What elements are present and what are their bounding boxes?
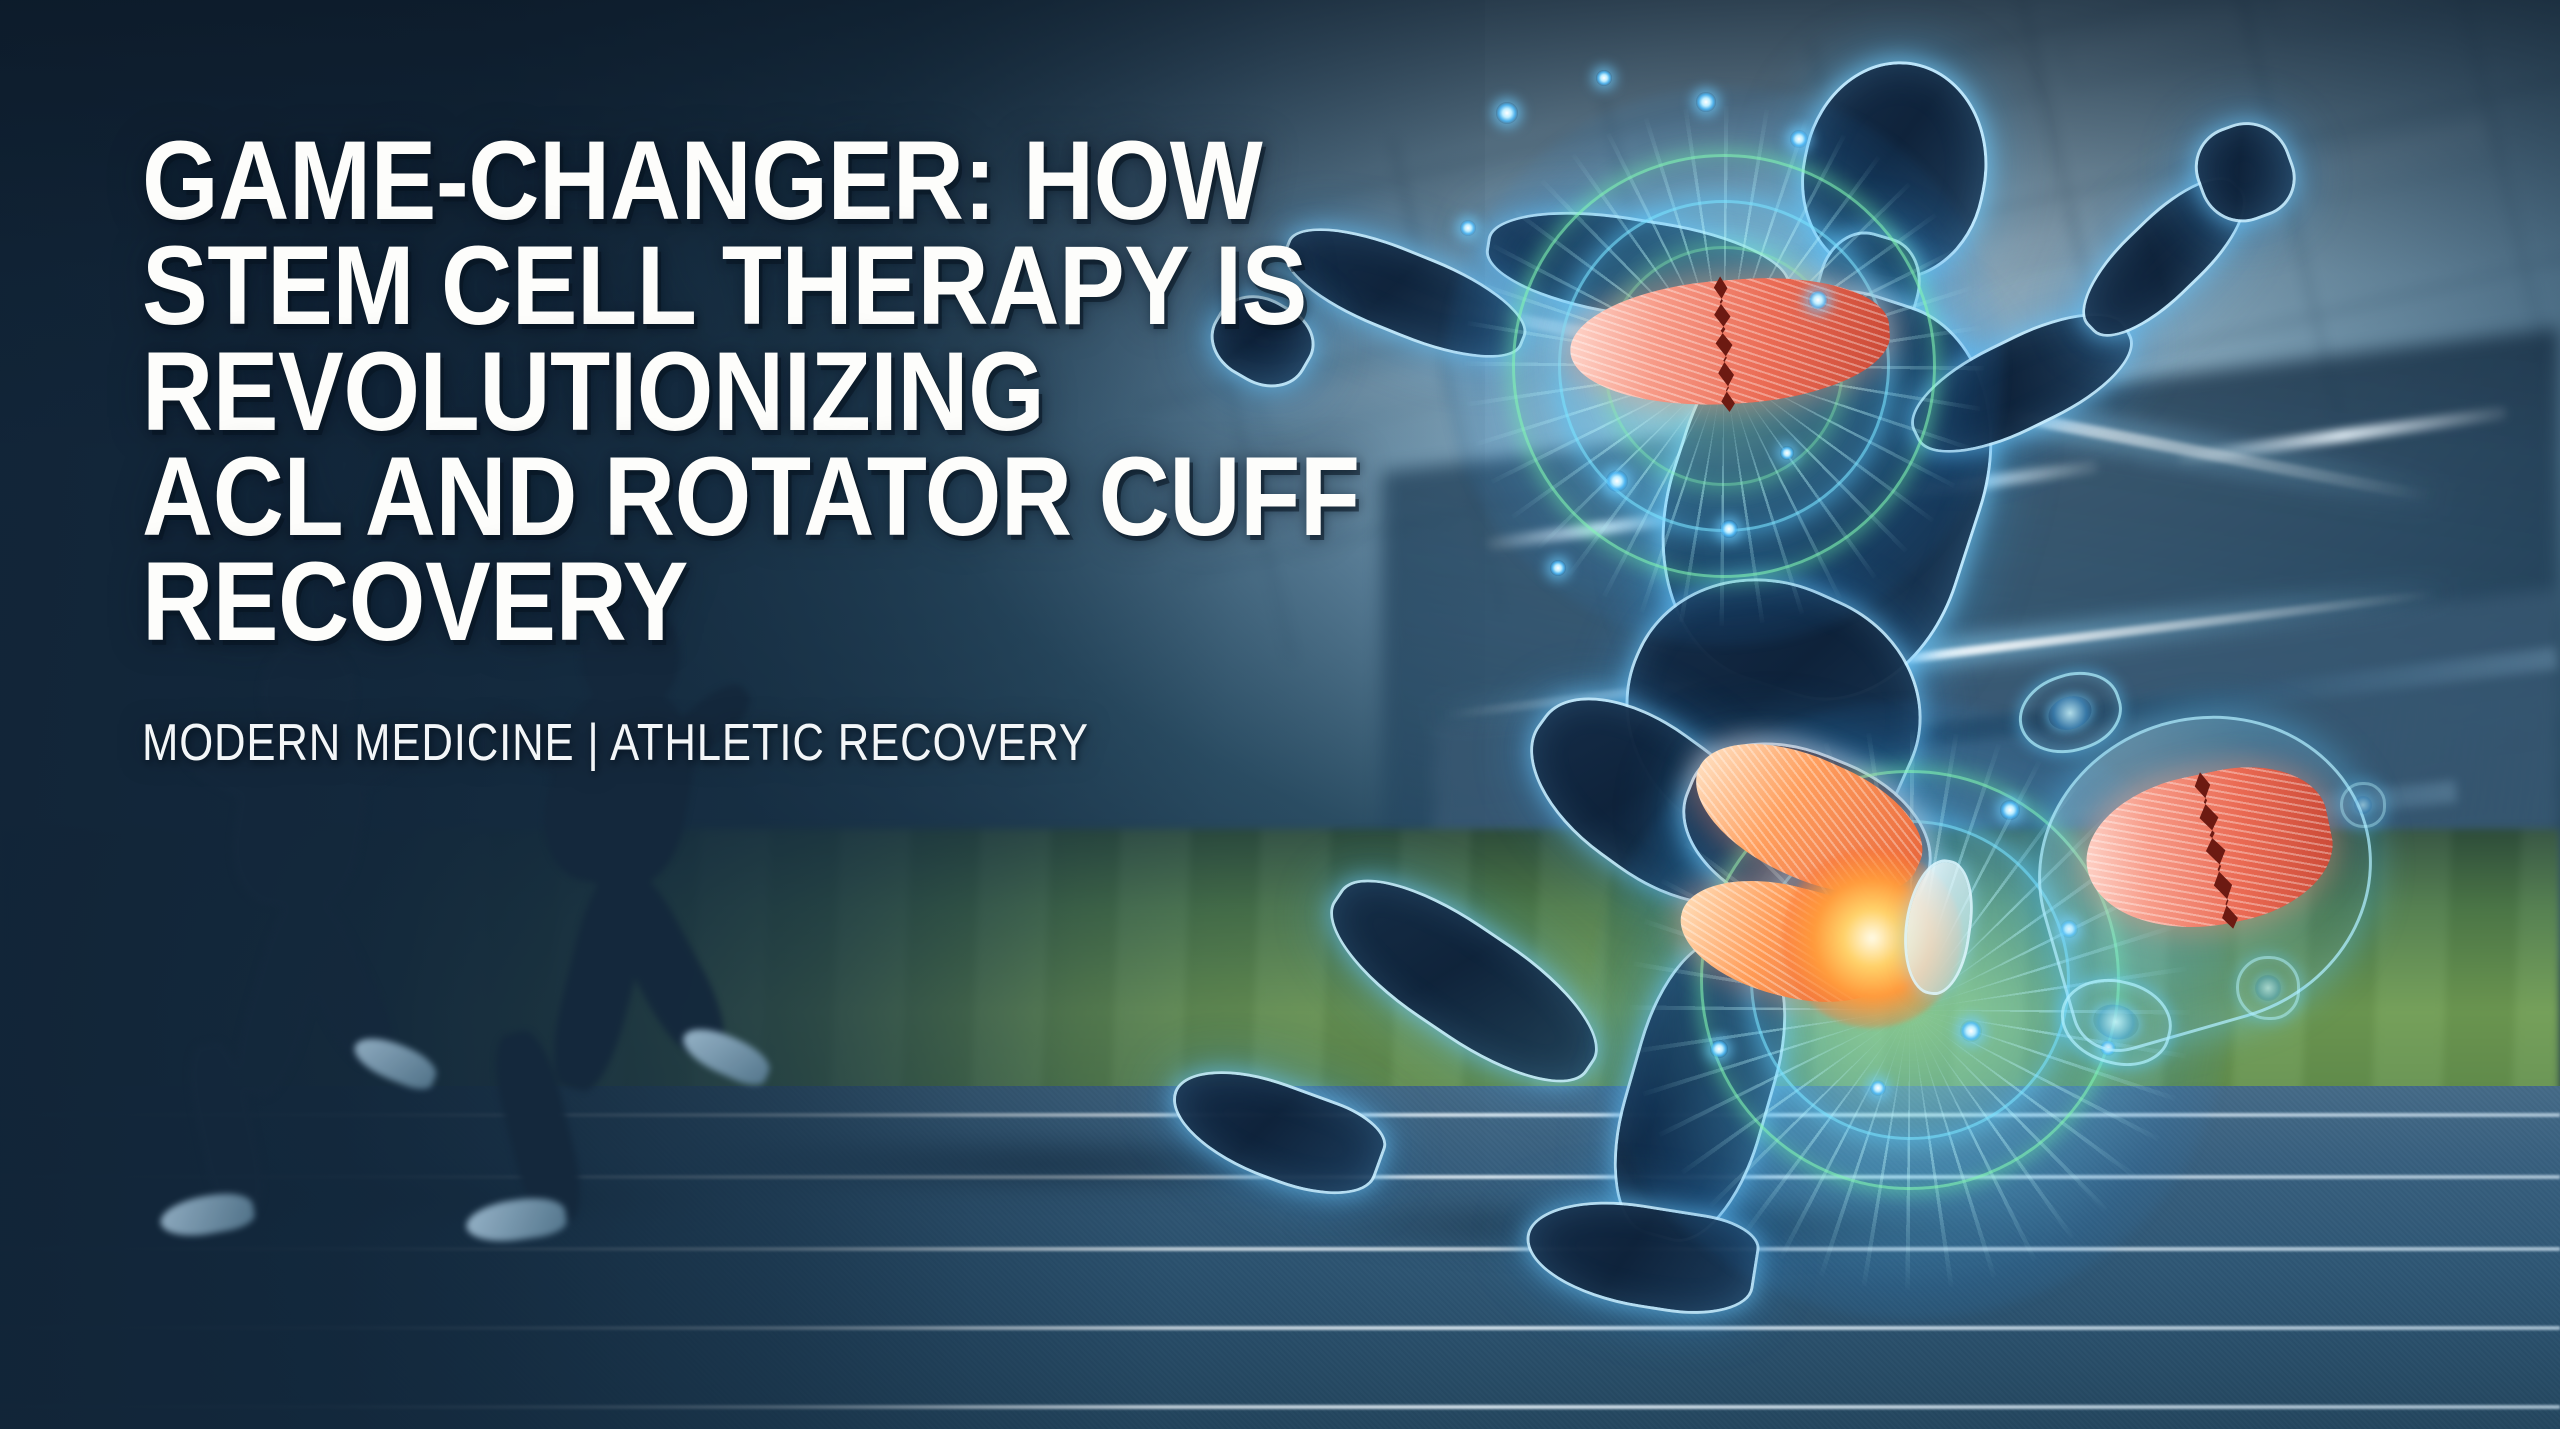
stem-cell-particle (1808, 290, 1828, 310)
hero-banner: GAME-CHANGER: HOW STEM CELL THERAPY IS R… (0, 0, 2560, 1429)
headline-line-5: RECOVERY (142, 549, 1295, 654)
stem-cell-particle (1696, 92, 1716, 112)
stem-cell-icon (2340, 782, 2386, 828)
headline-line-1: GAME-CHANGER: HOW (142, 128, 1295, 233)
stem-cell-particle (1606, 470, 1628, 492)
stem-cell-particle (2000, 800, 2020, 820)
stem-cell-particle (1720, 520, 1738, 538)
stem-cell-particle (1710, 1040, 1728, 1058)
stem-cell-particle (1596, 70, 1612, 86)
subtitle: MODERN MEDICINE | ATHLETIC RECOVERY (142, 716, 1108, 771)
stem-cell-particle (1550, 560, 1566, 576)
stem-cell-particle (1460, 220, 1476, 236)
stem-cell-particle (1960, 1020, 1982, 1042)
headline-line-2: STEM CELL THERAPY IS (142, 233, 1295, 338)
stem-cell-particle (1496, 102, 1518, 124)
hero-text-block: GAME-CHANGER: HOW STEM CELL THERAPY IS R… (142, 128, 1452, 771)
xray-athlete-figure (1400, 40, 2400, 1400)
stem-cell-particle (1870, 1080, 1886, 1096)
stem-cell-particle (1780, 446, 1794, 460)
page-title: GAME-CHANGER: HOW STEM CELL THERAPY IS R… (142, 128, 1295, 654)
stem-cell-icon (2236, 956, 2300, 1020)
headline-line-3: REVOLUTIONIZING (142, 339, 1295, 444)
stem-cell-particle (1790, 130, 1808, 148)
headline-line-4: ACL AND ROTATOR CUFF (142, 444, 1295, 549)
